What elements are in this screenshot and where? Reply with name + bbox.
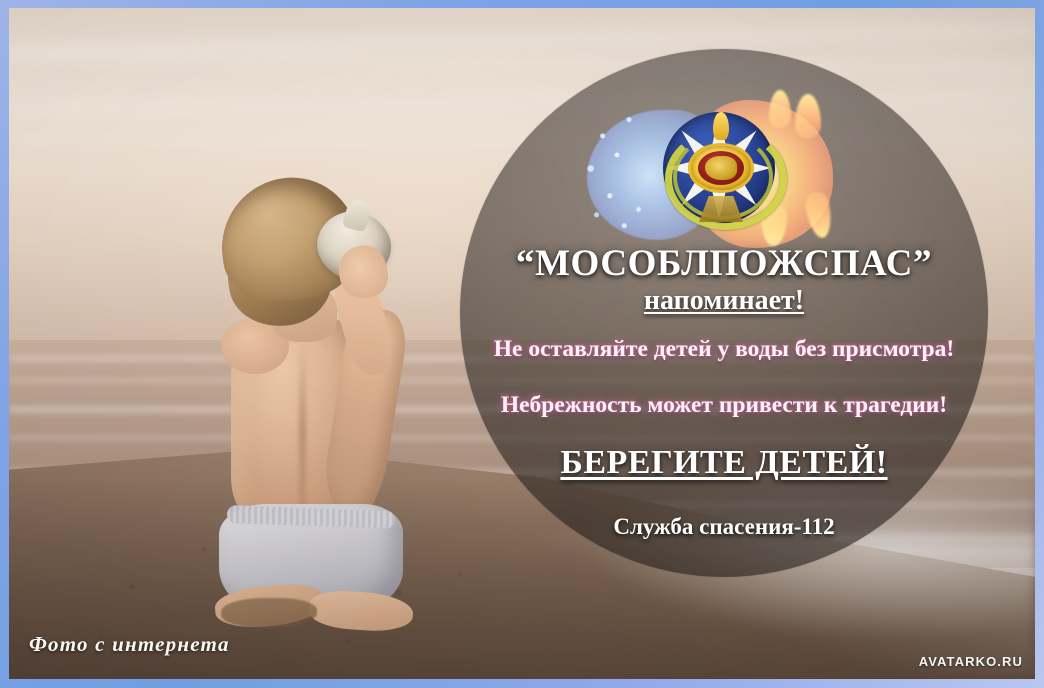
- boy-figure: [159, 168, 459, 598]
- safety-poster: “МОСОБЛПОЖСПАС” напоминает! Не оставляйт…: [0, 0, 1044, 688]
- warning-line-2: Небрежность может привести к трагедии!: [460, 391, 988, 419]
- saint-george-rider-icon: [705, 156, 737, 180]
- call-to-action: БЕРЕГИТЕ ДЕТЕЙ!: [460, 444, 988, 482]
- message-text-block: “МОСОБЛПОЖСПАС” напоминает! Не оставляйт…: [460, 244, 988, 540]
- boy-sandy-feet: [221, 598, 317, 628]
- emercom-emblem-icon: [587, 104, 835, 244]
- torch-icon: [713, 112, 729, 140]
- photo-credit-watermark: Фото с интернета: [29, 632, 230, 657]
- boy-spine-shadow: [299, 340, 306, 520]
- background-photograph: “МОСОБЛПОЖСПАС” напоминает! Не оставляйт…: [9, 8, 1035, 679]
- rescue-service-number: Служба спасения-112: [460, 514, 988, 540]
- site-watermark: AVATARKO.RU: [919, 654, 1023, 669]
- headline-organization: “МОСОБЛПОЖСПАС”: [460, 244, 988, 283]
- subheadline-reminds: напоминает!: [460, 284, 988, 318]
- warning-line-1: Не оставляйте детей у воды без присмотра…: [460, 335, 988, 363]
